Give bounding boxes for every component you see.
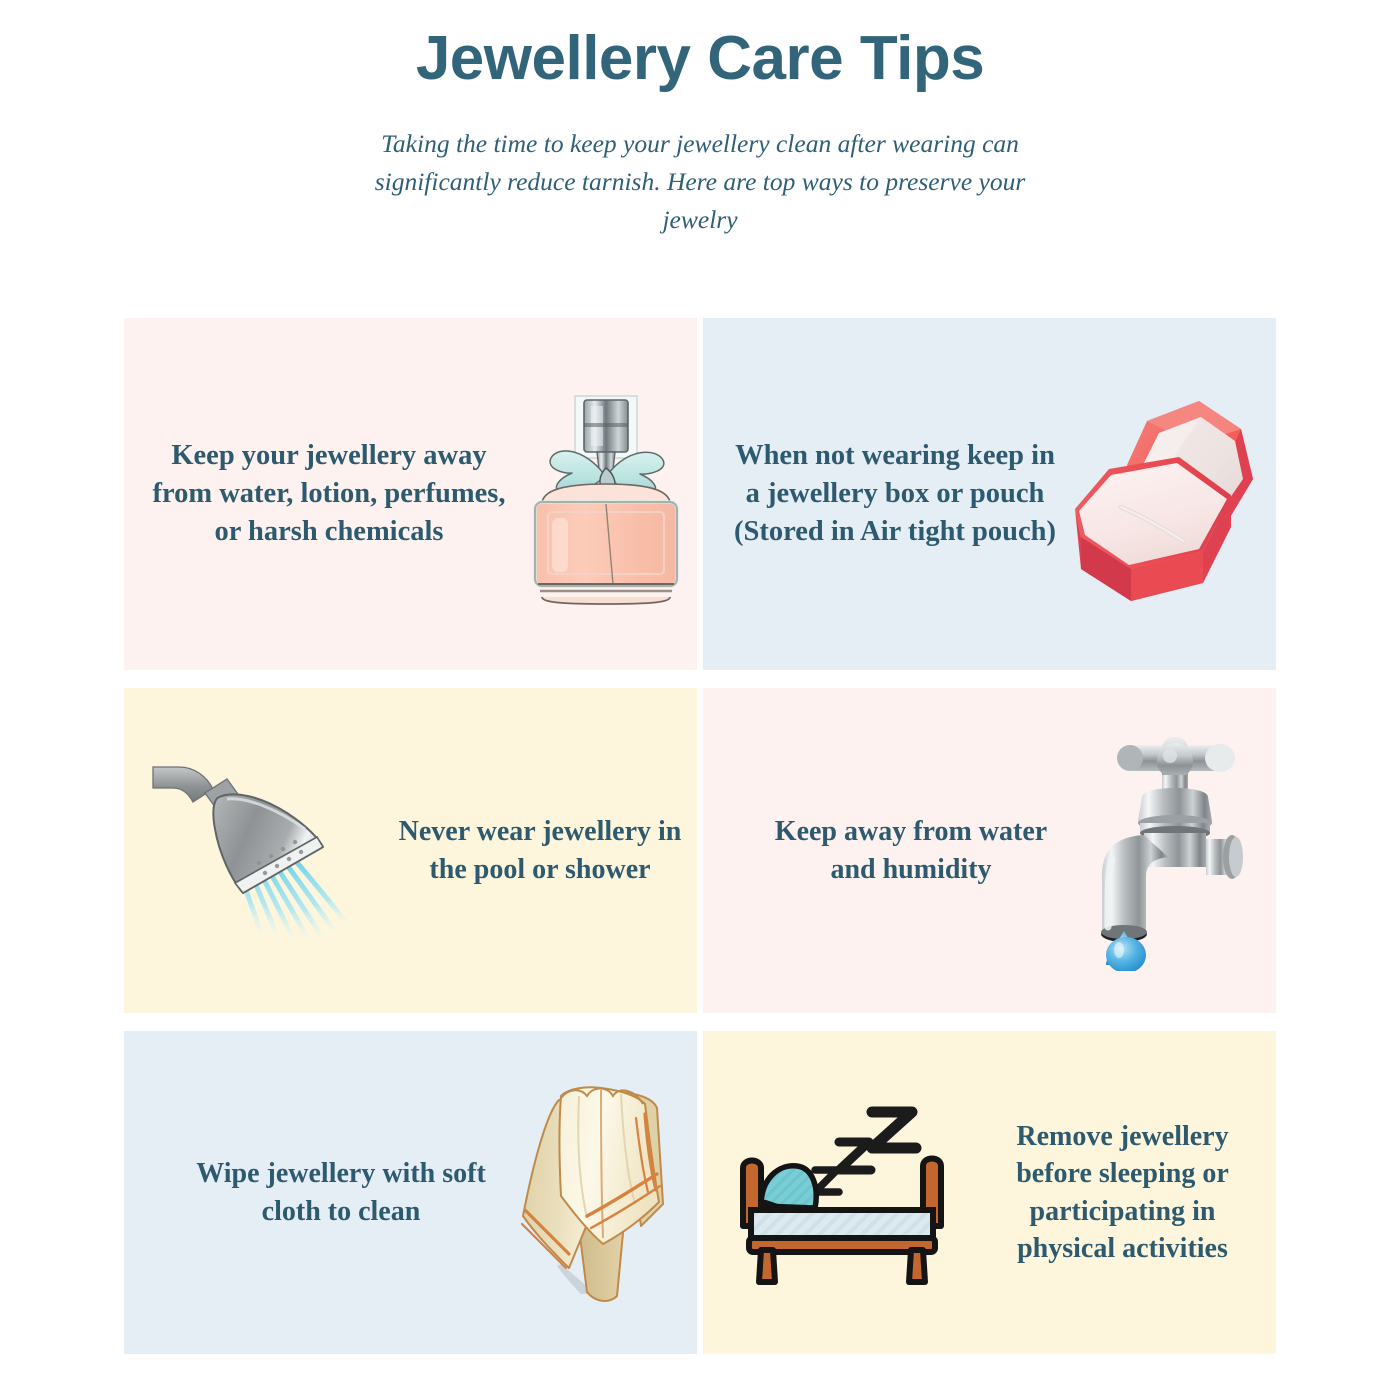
ring-box-icon (1065, 379, 1276, 609)
tip-card-jewellery-box: When not wearing keep in a jewellery box… (703, 318, 1276, 670)
bed-sleeping-icon (703, 1098, 980, 1288)
tip-card-label: Keep your jewellery away from water, lot… (144, 437, 514, 551)
tip-card-water-lotion-perfume: Keep your jewellery away from water, lot… (124, 318, 697, 670)
tip-card-label: Remove jewellery before sleeping or part… (980, 1118, 1265, 1267)
page-title: Jewellery Care Tips (0, 22, 1400, 95)
tips-grid: Keep your jewellery away from water, lot… (124, 318, 1276, 1354)
faucet-drip-icon (1061, 731, 1276, 971)
tip-card-soft-cloth: Wipe jewellery with soft cloth to clean (124, 1031, 697, 1354)
infographic-page: Jewellery Care Tips Taking the time to k… (0, 0, 1400, 1400)
tip-card-label: Keep away from water and humidity (761, 813, 1061, 887)
tip-card-water-humidity: Keep away from water and humidity (703, 688, 1276, 1013)
perfume-bottle-icon (514, 378, 697, 610)
tip-card-label: Wipe jewellery with soft cloth to clean (176, 1155, 506, 1229)
shower-head-icon (124, 743, 390, 958)
tip-card-label: When not wearing keep in a jewellery box… (725, 437, 1065, 551)
tip-card-label: Never wear jewellery in the pool or show… (390, 813, 690, 887)
page-subtitle: Taking the time to keep your jewellery c… (370, 125, 1030, 238)
header: Jewellery Care Tips Taking the time to k… (0, 0, 1400, 238)
tip-card-pool-shower: Never wear jewellery in the pool or show… (124, 688, 697, 1013)
tip-card-remove-before-sleep: Remove jewellery before sleeping or part… (703, 1031, 1276, 1354)
cleaning-cloth-icon (506, 1078, 697, 1308)
